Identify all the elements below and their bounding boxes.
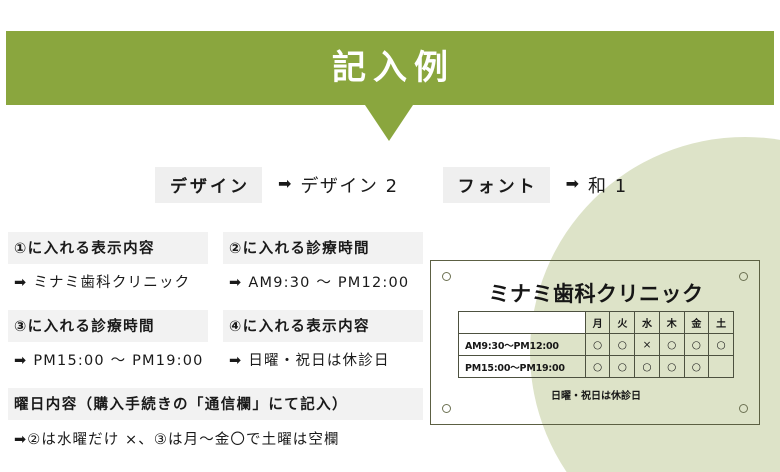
- signboard-preview: ミナミ歯科クリニック 月 火 水 木 金 土 AM9:30〜PM12:00 ○ …: [430, 260, 760, 425]
- settings-row: デザイン ➡ デザイン 2 フォント ➡ 和 1: [0, 167, 780, 203]
- day-header-fri: 金: [684, 312, 709, 334]
- day-header-thu: 木: [659, 312, 684, 334]
- info-value: ➡PM15:00 〜 PM19:00: [8, 342, 208, 379]
- design-value: デザイン 2: [300, 172, 398, 198]
- page-title: 記入例: [6, 31, 774, 105]
- info-label: ④に入れる表示内容: [223, 310, 423, 342]
- arrow-right-icon: ➡: [566, 177, 579, 193]
- font-value: 和 1: [588, 172, 628, 198]
- info-cell-field-1: ①に入れる表示内容 ➡ミナミ歯科クリニック: [8, 232, 208, 301]
- table-row: PM15:00〜PM19:00 ○ ○ ○ ○ ○: [459, 356, 734, 378]
- info-value: ➡ミナミ歯科クリニック: [8, 264, 208, 301]
- weekday-note-label: 曜日内容（購入手続きの「通信欄」にて記入）: [8, 388, 423, 420]
- header-banner: 記入例: [6, 31, 774, 105]
- mark-cell: [709, 356, 734, 378]
- signboard-note: 日曜・祝日は休診日: [431, 387, 761, 402]
- arrow-right-icon: ➡: [14, 432, 27, 448]
- mark-cell: ○: [709, 334, 734, 356]
- screw-hole-icon: [442, 404, 451, 413]
- arrow-right-icon: ➡: [229, 275, 242, 291]
- info-value-text: 日曜・祝日は休診日: [248, 353, 389, 369]
- corner-header-cell: [459, 312, 586, 334]
- mark-cell: ○: [585, 356, 610, 378]
- info-value: ➡日曜・祝日は休診日: [223, 342, 423, 379]
- spacer: [8, 301, 423, 310]
- weekday-note-text: ②は水曜だけ ×、③は月〜金〇で土曜は空欄: [27, 432, 339, 448]
- screw-hole-icon: [739, 404, 748, 413]
- info-cell-field-4: ④に入れる表示内容 ➡日曜・祝日は休診日: [223, 310, 423, 379]
- table-row: AM9:30〜PM12:00 ○ ○ × ○ ○ ○: [459, 334, 734, 356]
- info-label: ①に入れる表示内容: [8, 232, 208, 264]
- mark-cell: ○: [684, 334, 709, 356]
- info-row-2: ③に入れる診療時間 ➡PM15:00 〜 PM19:00 ④に入れる表示内容 ➡…: [8, 310, 423, 379]
- mark-cell: ○: [610, 356, 635, 378]
- arrow-right-icon: ➡: [278, 177, 291, 193]
- weekday-note-value: ➡②は水曜だけ ×、③は月〜金〇で土曜は空欄: [8, 420, 423, 453]
- mark-cell: ○: [659, 334, 684, 356]
- day-header-sat: 土: [709, 312, 734, 334]
- info-value: ➡AM9:30 〜 PM12:00: [223, 264, 423, 301]
- mark-cell: ○: [610, 334, 635, 356]
- schedule-table: 月 火 水 木 金 土 AM9:30〜PM12:00 ○ ○ × ○ ○ ○: [458, 311, 734, 378]
- info-value-text: PM15:00 〜 PM19:00: [33, 353, 203, 369]
- arrow-right-icon: ➡: [14, 353, 27, 369]
- time-range-cell: PM15:00〜PM19:00: [459, 356, 586, 378]
- day-header-mon: 月: [585, 312, 610, 334]
- info-block: ①に入れる表示内容 ➡ミナミ歯科クリニック ②に入れる診療時間 ➡AM9:30 …: [8, 232, 423, 453]
- triangle-down-icon: [365, 105, 413, 141]
- info-value-text: AM9:30 〜 PM12:00: [248, 275, 409, 291]
- arrow-right-icon: ➡: [229, 353, 242, 369]
- info-row-1: ①に入れる表示内容 ➡ミナミ歯科クリニック ②に入れる診療時間 ➡AM9:30 …: [8, 232, 423, 301]
- mark-cell: ○: [684, 356, 709, 378]
- table-header-row: 月 火 水 木 金 土: [459, 312, 734, 334]
- day-header-wed: 水: [635, 312, 660, 334]
- spacer: [8, 379, 423, 388]
- arrow-right-icon: ➡: [14, 275, 27, 291]
- day-header-tue: 火: [610, 312, 635, 334]
- font-label-chip: フォント: [443, 167, 550, 203]
- info-value-text: ミナミ歯科クリニック: [33, 275, 190, 291]
- mark-cell: ○: [585, 334, 610, 356]
- schedule-table-body: 月 火 水 木 金 土 AM9:30〜PM12:00 ○ ○ × ○ ○ ○: [459, 312, 734, 378]
- signboard-title: ミナミ歯科クリニック: [431, 278, 761, 308]
- mark-cell: ○: [635, 356, 660, 378]
- info-label: ②に入れる診療時間: [223, 232, 423, 264]
- info-cell-field-3: ③に入れる診療時間 ➡PM15:00 〜 PM19:00: [8, 310, 208, 379]
- mark-cell: ○: [659, 356, 684, 378]
- page-root: 記入例 デザイン ➡ デザイン 2 フォント ➡ 和 1 ①に入れる表示内容 ➡…: [0, 0, 780, 472]
- mark-cell: ×: [635, 334, 660, 356]
- info-cell-field-2: ②に入れる診療時間 ➡AM9:30 〜 PM12:00: [223, 232, 423, 301]
- time-range-cell: AM9:30〜PM12:00: [459, 334, 586, 356]
- design-label-chip: デザイン: [155, 167, 262, 203]
- info-label: ③に入れる診療時間: [8, 310, 208, 342]
